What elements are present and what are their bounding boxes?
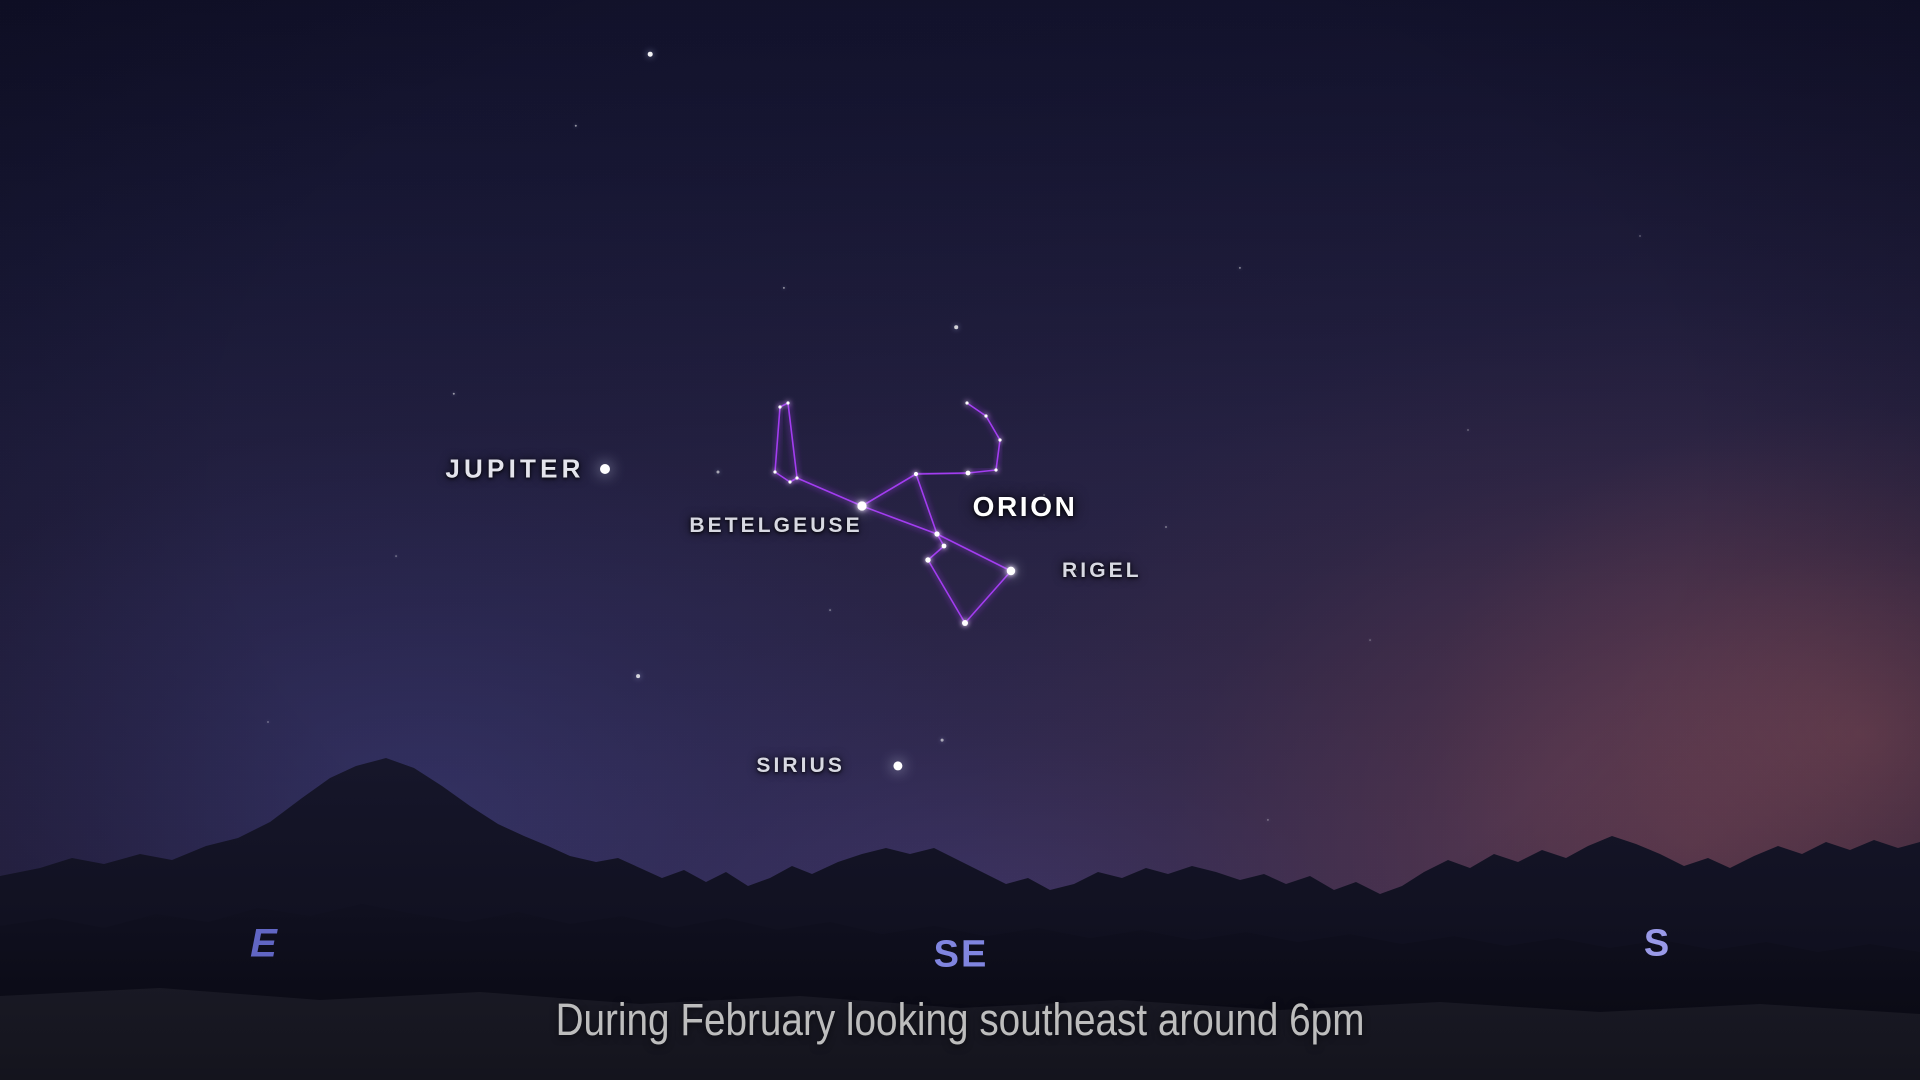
label-orion: ORION bbox=[973, 491, 1078, 523]
named-object-dot-rigel bbox=[1007, 567, 1015, 575]
scene-caption: During February looking southeast around… bbox=[556, 994, 1365, 1046]
named-object-dot-jupiter bbox=[600, 464, 610, 474]
compass-marker-southeast: SE bbox=[934, 934, 989, 977]
named-object-dot-betelgeuse bbox=[857, 501, 866, 510]
label-jupiter: JUPITER bbox=[445, 454, 584, 485]
compass-marker-east: E bbox=[250, 922, 278, 967]
star-chart-scene: JUPITER BETELGEUSE ORION RIGEL SIRIUS bbox=[0, 0, 1920, 1080]
label-rigel: RIGEL bbox=[1062, 559, 1142, 583]
label-betelgeuse: BETELGEUSE bbox=[689, 514, 862, 538]
compass-marker-south: S bbox=[1644, 923, 1670, 966]
